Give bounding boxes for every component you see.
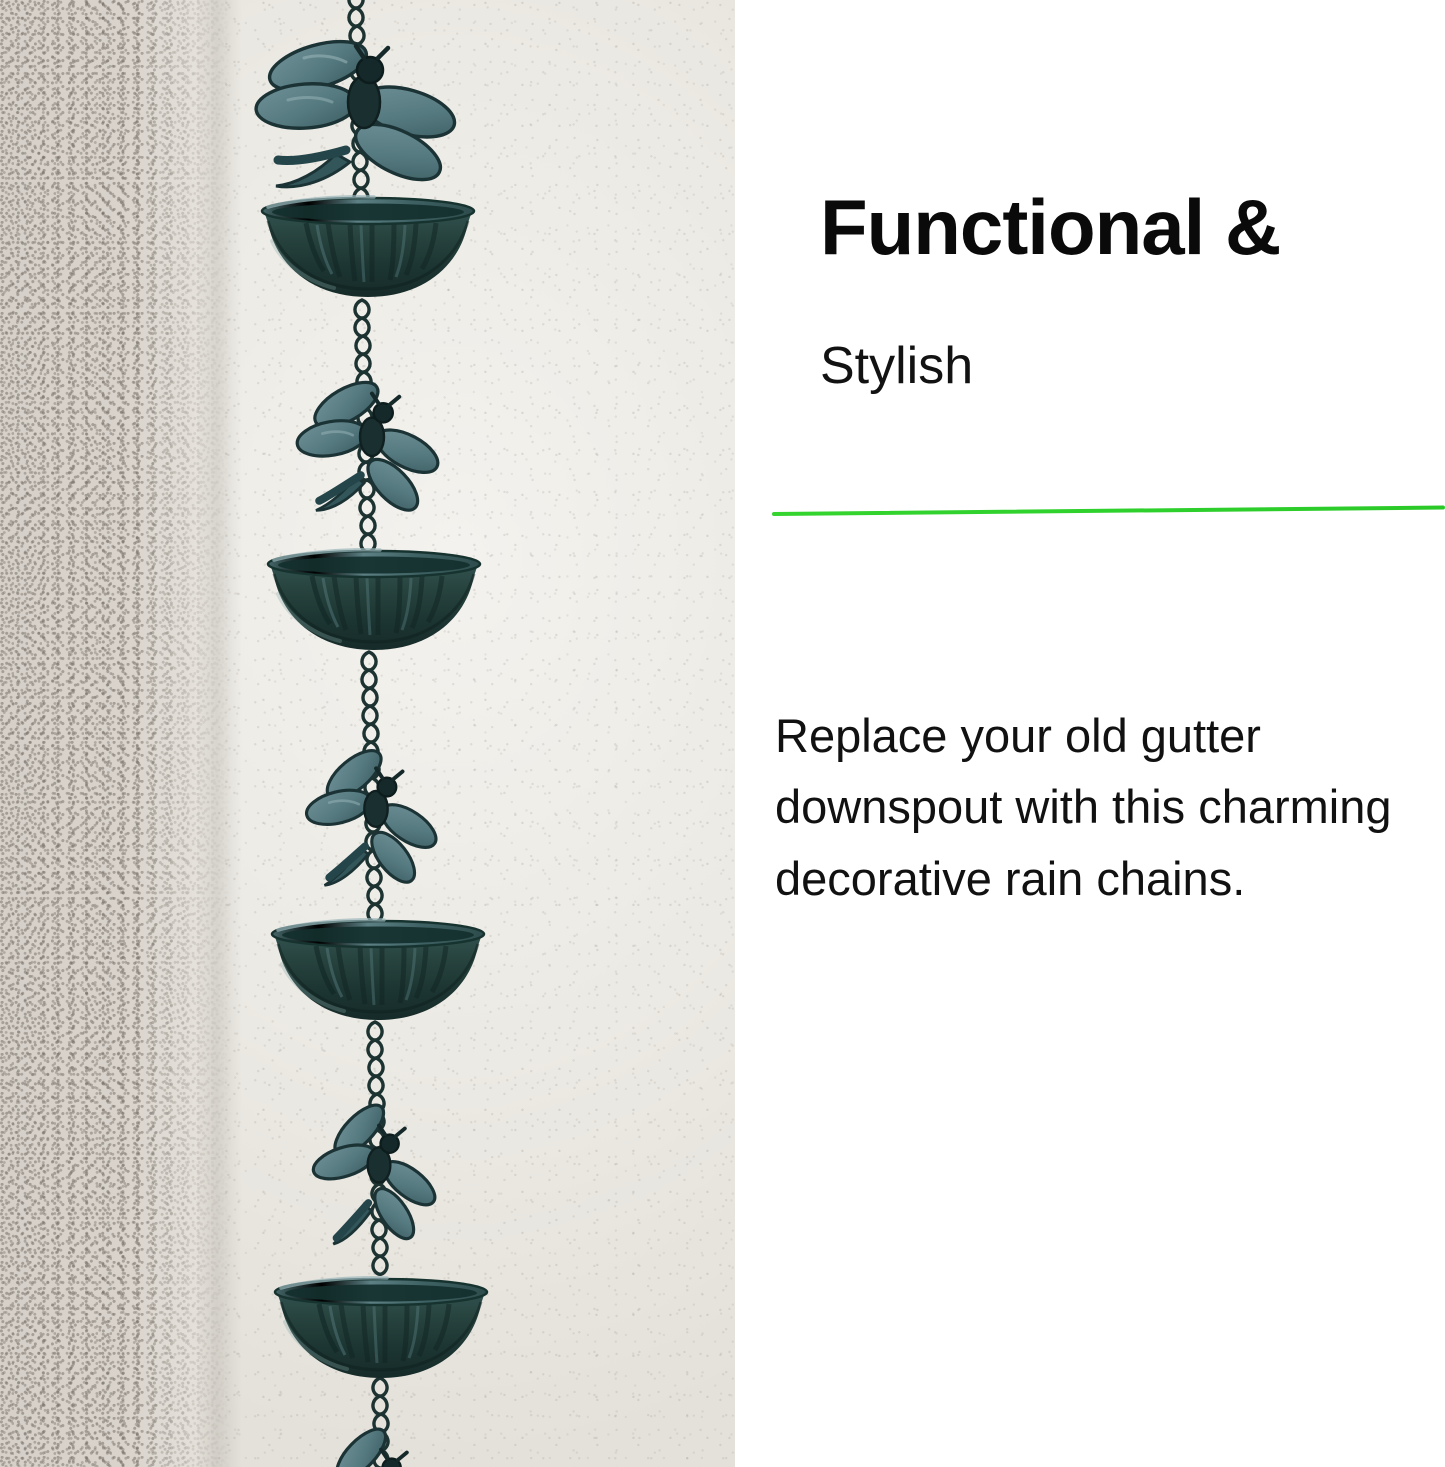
heading-primary: Functional & <box>820 188 1430 266</box>
rain-cup-2 <box>268 550 480 650</box>
heading-secondary: Stylish <box>820 340 1430 392</box>
rain-cup-4 <box>275 1278 487 1378</box>
dragonfly-ornament-1 <box>255 32 461 191</box>
rain-cup-3 <box>272 920 484 1020</box>
green-divider-rule <box>772 506 1445 516</box>
body-description: Replace your old gutter downspout with t… <box>775 700 1435 914</box>
heading-block: Functional & Stylish <box>820 188 1430 392</box>
text-panel: Functional & Stylish Replace your old gu… <box>735 0 1445 1467</box>
rain-chain-assembly <box>0 0 735 1467</box>
product-feature-banner: Functional & Stylish Replace your old gu… <box>0 0 1445 1467</box>
rain-cup-1 <box>262 197 474 297</box>
product-photo <box>0 0 735 1467</box>
